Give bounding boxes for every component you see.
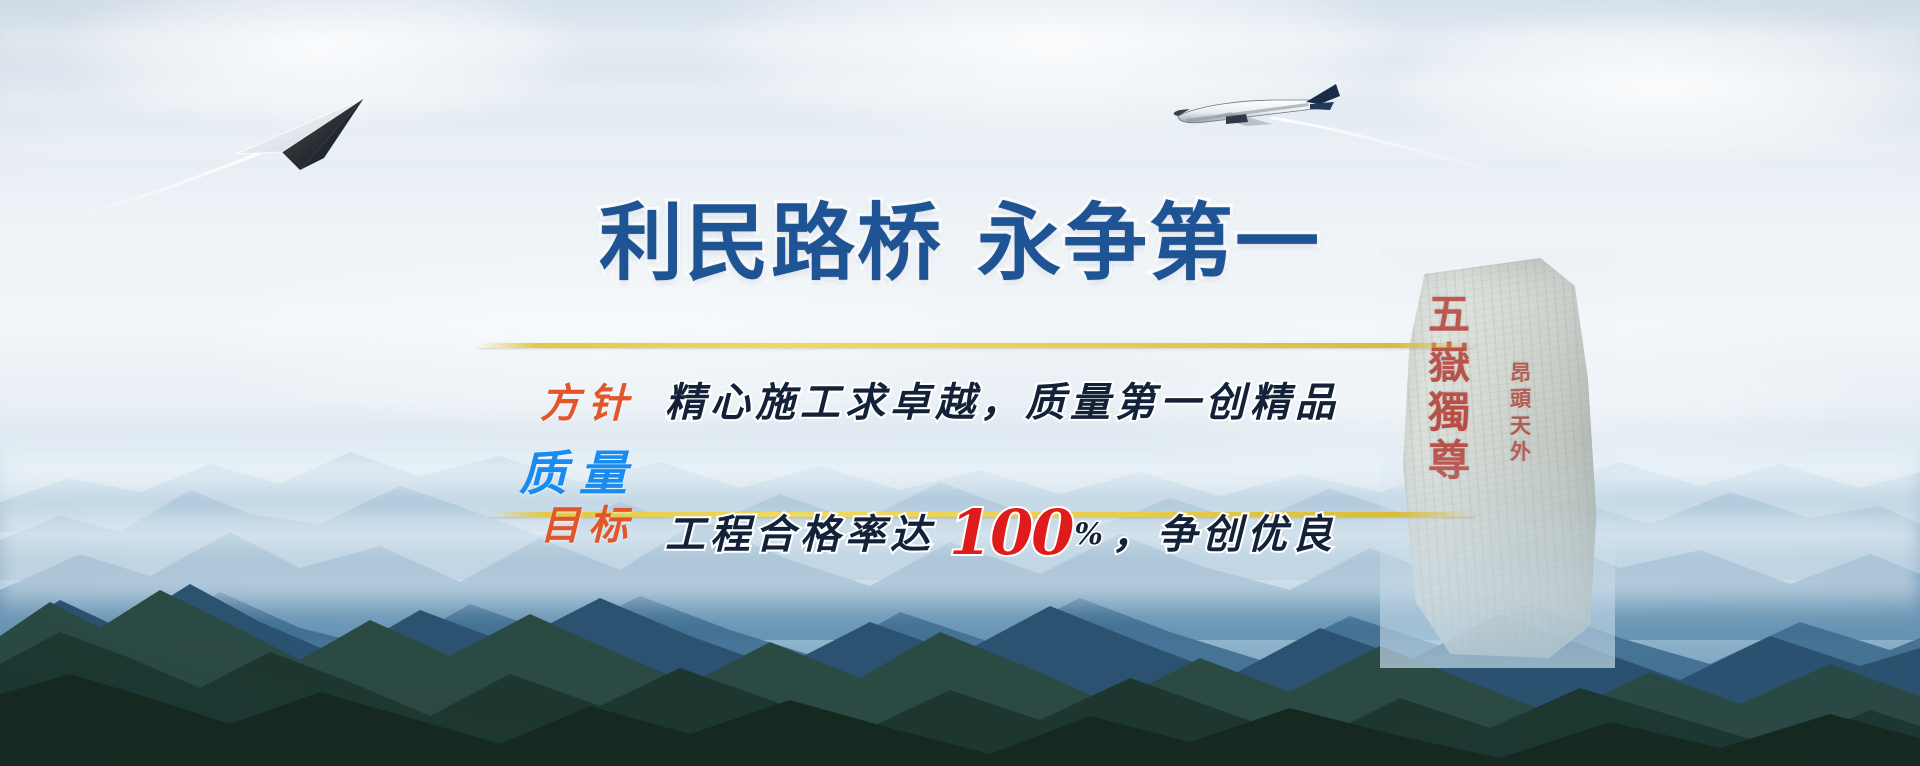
divider-top bbox=[478, 343, 1475, 348]
label-goal: 目标 bbox=[540, 493, 636, 551]
hero-banner: 五 嶽 獨 尊 昂 頭 天 外 利民路桥永争第一 质量 方针 目标 精心施工求卓… bbox=[0, 0, 1920, 766]
slogan-goal-suffix: ，争创优良 bbox=[1112, 502, 1337, 560]
title-part-2: 永争第一 bbox=[977, 194, 1321, 292]
slogan-goal-prefix: 工程合格率达 bbox=[665, 502, 935, 560]
slogan-policy: 精心施工求卓越，质量第一创精品 bbox=[665, 370, 1340, 428]
title-part-1: 利民路桥 bbox=[599, 194, 943, 292]
banner-content: 利民路桥永争第一 质量 方针 目标 精心施工求卓越，质量第一创精品 工程合格率达… bbox=[0, 0, 1920, 766]
slogan-goal: 工程合格率达 100 % ，争创优良 bbox=[665, 490, 1337, 563]
page-title: 利民路桥永争第一 bbox=[0, 176, 1920, 297]
percentage-value: 100 bbox=[949, 496, 1072, 569]
label-policy: 方针 bbox=[540, 371, 636, 429]
percent-sign: % bbox=[1074, 517, 1108, 552]
